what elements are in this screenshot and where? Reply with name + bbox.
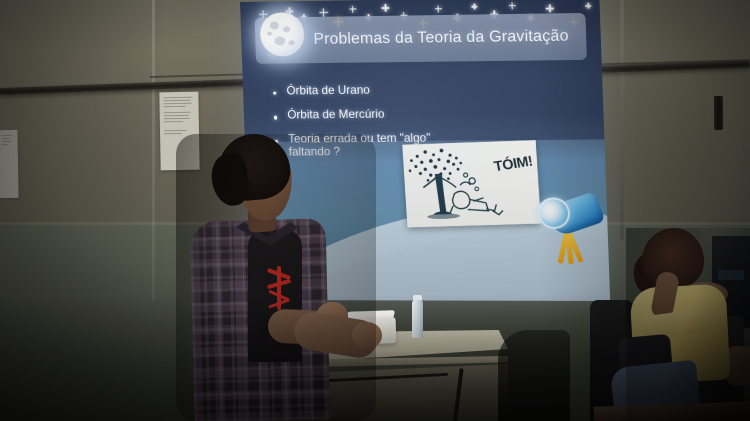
telescope-icon: [531, 191, 609, 267]
bullet-dot-icon: [274, 116, 278, 119]
bullet-text: Órbita de Urano: [286, 85, 370, 98]
list-item: Órbita de Urano: [273, 82, 580, 97]
presenter-right-hand: [352, 322, 382, 348]
wall-notice-left: [0, 130, 19, 198]
seated-audience-woman: [626, 228, 750, 421]
slide-title-bar: Problemas da Teoria da Gravitação: [255, 13, 587, 64]
wall-corner-left: [152, 0, 155, 300]
conduit-drop-tube: [714, 96, 723, 130]
foreground-silhouette: [498, 330, 570, 421]
wall-corner-right: [620, 0, 624, 240]
water-bottle: [412, 300, 423, 338]
bullet-dot-icon: [273, 92, 277, 95]
classroom-presentation-photo: Problemas da Teoria da Gravitação Órbita…: [0, 0, 750, 421]
presenter: [176, 134, 376, 421]
tshirt-logo: [266, 266, 292, 310]
newton-apple-tree-cartoon: TÓIM!: [402, 140, 541, 227]
moon-icon: [259, 12, 305, 57]
slide-title: Problemas da Teoria da Gravitação: [313, 27, 569, 49]
bullet-text: Órbita de Mercúrio: [287, 109, 384, 122]
list-item: Órbita de Mercúrio: [274, 107, 581, 122]
